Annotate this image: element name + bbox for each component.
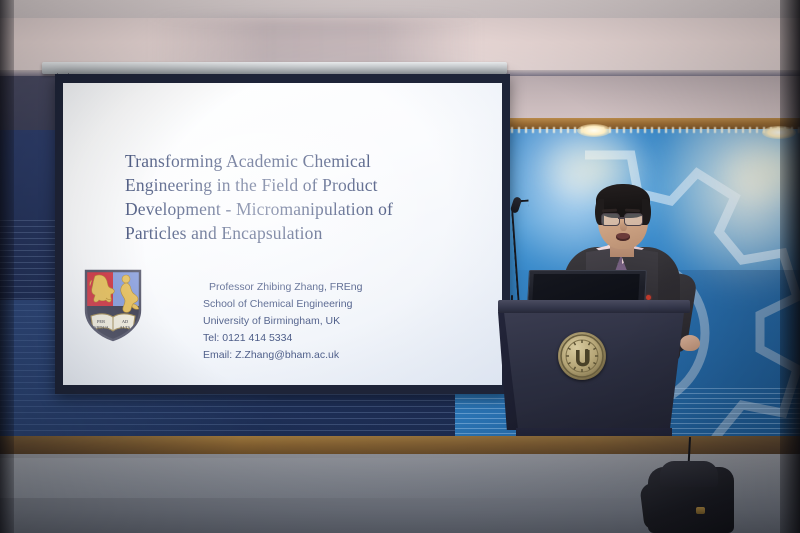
glasses-lens-left [601, 213, 620, 226]
presenter-mouth [616, 233, 630, 241]
screen-light-falloff [63, 83, 502, 385]
lecture-hall-photo: Transforming Academic Chemical Engineeri… [0, 0, 800, 533]
right-wall-shadow [470, 76, 800, 120]
projected-slide: Transforming Academic Chemical Engineeri… [63, 83, 502, 385]
projector-screen-housing [42, 62, 507, 74]
glasses-lens-right [624, 213, 643, 226]
left-frame-shadow [0, 0, 14, 533]
backpack-on-floor [640, 455, 740, 533]
ceiling [0, 0, 800, 20]
projection-screen-frame: Transforming Academic Chemical Engineeri… [55, 74, 510, 394]
laptop-screen [532, 274, 639, 300]
ceiling-downlight-1 [577, 124, 611, 137]
bag-top-flap [660, 461, 718, 487]
podium-top-surface [498, 300, 690, 313]
baseboard-shading [0, 436, 800, 456]
right-frame-shadow [780, 0, 800, 533]
glasses-bridge [618, 217, 624, 219]
institution-seal-icon [558, 332, 606, 380]
bag-buckle [696, 507, 705, 514]
presenter-hair-right [642, 199, 651, 225]
